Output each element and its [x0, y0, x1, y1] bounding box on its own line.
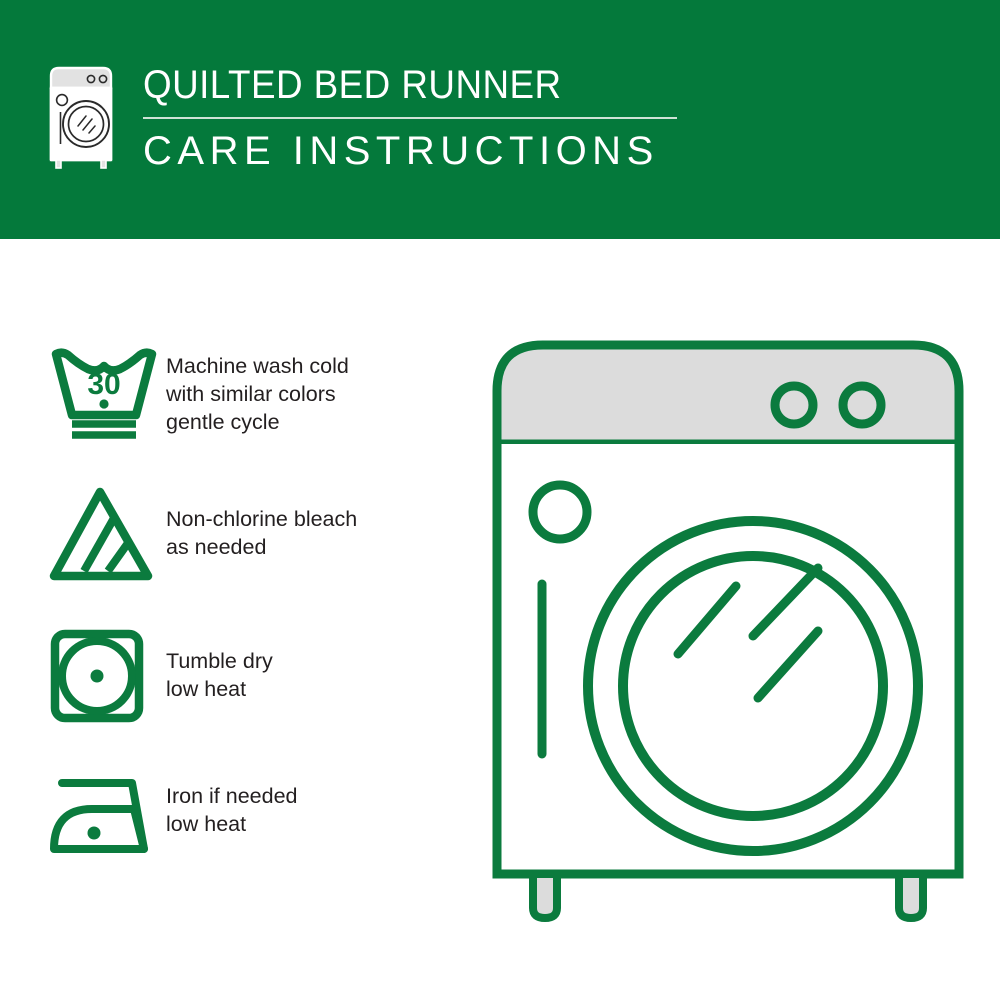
title-divider	[143, 117, 677, 119]
care-symbol-list: 30 Machine wash cold with similar colors…	[48, 340, 448, 913]
control-panel	[497, 345, 959, 444]
page-title: QUILTED BED RUNNER	[143, 62, 562, 108]
machine-leg-right	[899, 874, 923, 918]
care-label-tumble-dry: Tumble dry low heat	[166, 624, 448, 703]
non-chlorine-bleach-icon	[48, 486, 160, 582]
care-row-tumble-dry: Tumble dry low heat	[48, 624, 448, 728]
page-subtitle: CARE INSTRUCTIONS	[143, 128, 659, 174]
machine-wash-30-gentle-icon: 30	[48, 342, 160, 442]
machine-wash-symbol: 30	[48, 340, 166, 444]
washing-machine-icon	[45, 64, 117, 172]
front-load-washing-machine-illustration	[488, 336, 968, 926]
care-row-iron: Iron if needed low heat	[48, 764, 448, 868]
care-label-machine-wash: Machine wash cold with similar colors ge…	[166, 340, 448, 436]
iron-symbol	[48, 764, 166, 868]
care-label-bleach: Non-chlorine bleach as needed	[166, 482, 448, 561]
header-banner: QUILTED BED RUNNER CARE INSTRUCTIONS	[0, 0, 1000, 239]
wash-temperature-label: 30	[87, 368, 120, 401]
control-knob-left	[775, 386, 813, 424]
care-label-iron: Iron if needed low heat	[166, 764, 448, 838]
iron-low-heat-icon	[48, 775, 160, 857]
tumble-dry-low-heat-icon	[48, 628, 160, 724]
control-knob-right	[843, 386, 881, 424]
care-row-machine-wash: 30 Machine wash cold with similar colors…	[48, 340, 448, 444]
bleach-symbol	[48, 482, 166, 586]
care-instructions-infographic: QUILTED BED RUNNER CARE INSTRUCTIONS 30	[0, 0, 1000, 1000]
tumble-dry-symbol	[48, 624, 166, 728]
header-content: QUILTED BED RUNNER CARE INSTRUCTIONS	[45, 62, 677, 174]
care-row-bleach: Non-chlorine bleach as needed	[48, 482, 448, 586]
header-title-block: QUILTED BED RUNNER CARE INSTRUCTIONS	[143, 62, 677, 174]
machine-leg-left	[533, 874, 557, 918]
